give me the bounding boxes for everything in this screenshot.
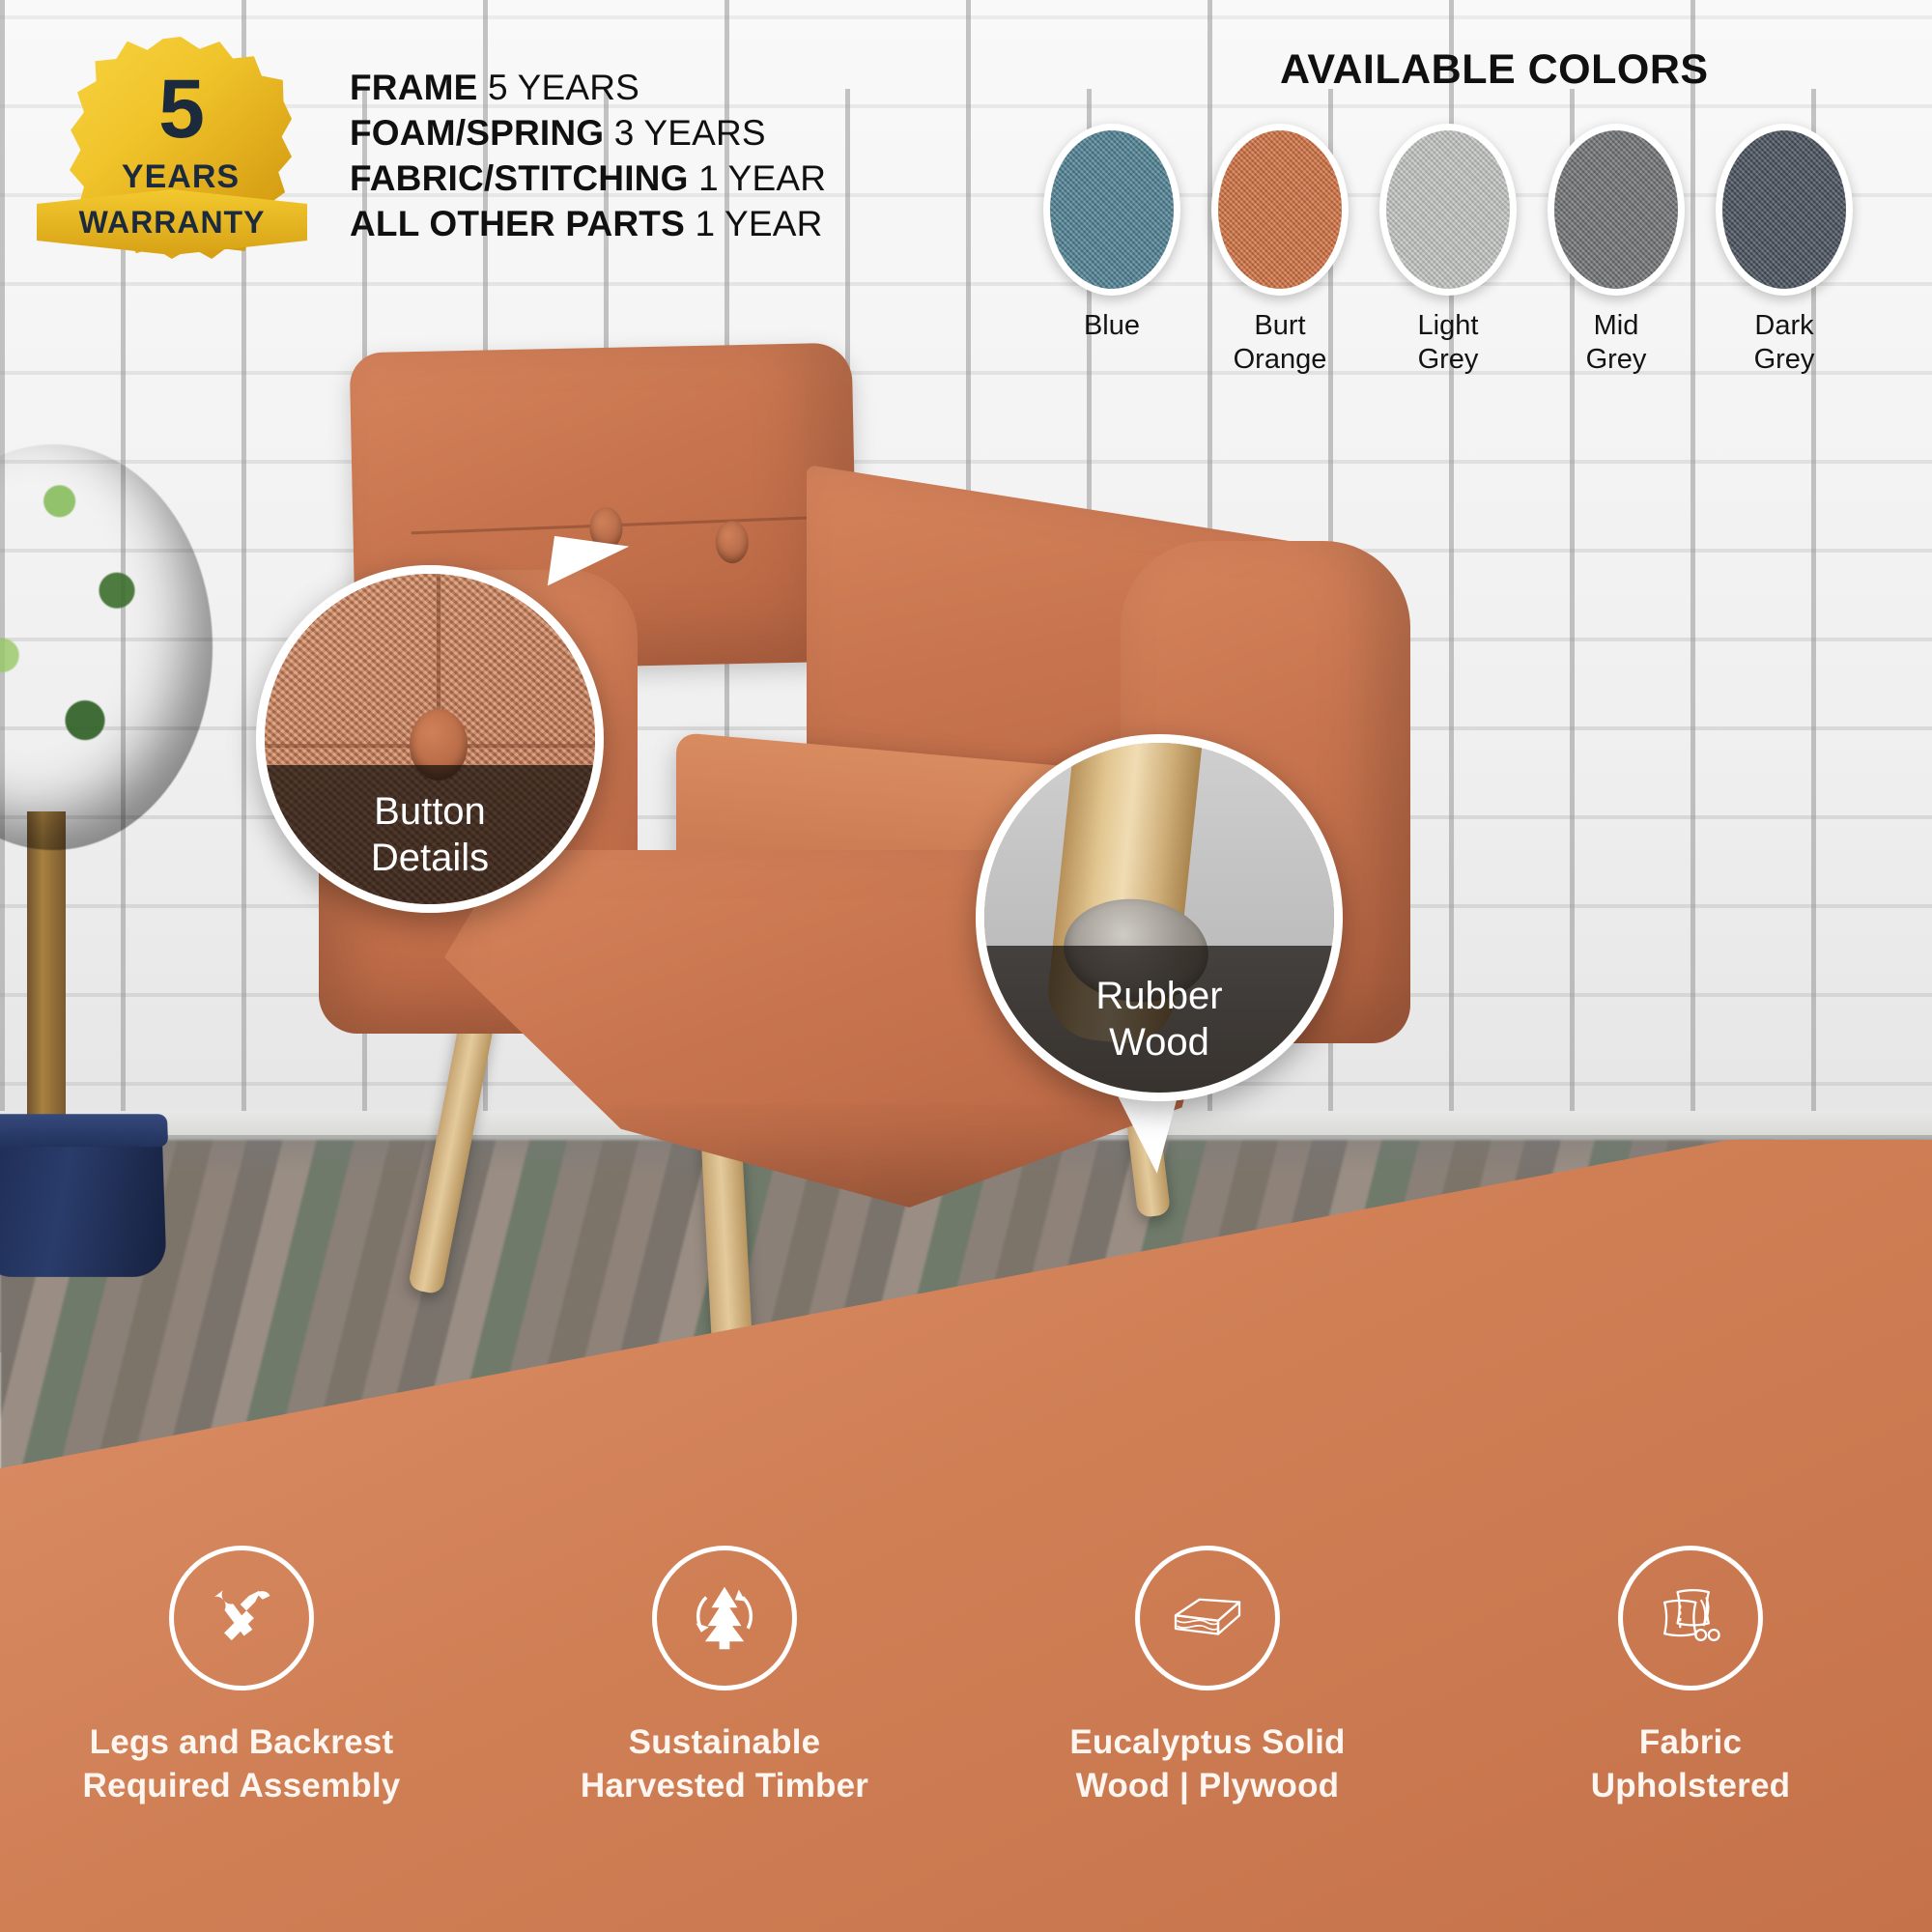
feature-label-line1: Eucalyptus Solid	[1000, 1721, 1415, 1765]
feature-sustainable-label: Sustainable Harvested Timber	[517, 1721, 932, 1808]
warranty-terms-list: FRAME 5 YEARS FOAM/SPRING 3 YEARS FABRIC…	[350, 66, 826, 247]
feature-row: Legs and Backrest Required Assembly	[0, 1546, 1932, 1808]
feature-label-line2: Wood | Plywood	[1000, 1765, 1415, 1808]
color-swatch-mid-grey-oval[interactable]	[1548, 124, 1685, 296]
feature-assembly: Legs and Backrest Required Assembly	[34, 1546, 449, 1808]
color-swatch-blue[interactable]: Blue	[1043, 124, 1180, 378]
feature-eucalyptus-label: Eucalyptus Solid Wood | Plywood	[1000, 1721, 1415, 1808]
swatch-label-line1: Blue	[1043, 309, 1180, 343]
available-colors-title: AVAILABLE COLORS	[1280, 46, 1709, 94]
feature-label-line1: Legs and Backrest	[34, 1721, 449, 1765]
callout-rubber-wood: Rubber Wood	[976, 734, 1343, 1101]
caption-line2: Details	[371, 837, 489, 879]
caption-line1: Button	[374, 790, 486, 833]
callout-button-details: Button Details	[256, 565, 604, 913]
rubber-wood-caption-text: Rubber Wood	[1095, 973, 1222, 1065]
color-swatch-light-grey-label: Light Grey	[1379, 309, 1517, 378]
feature-label-line2: Harvested Timber	[517, 1765, 932, 1808]
tools-icon	[202, 1578, 281, 1658]
infographic-canvas: 5 YEARS WARRANTY FRAME 5 YEARS FOAM/SPRI…	[0, 0, 1932, 1932]
color-swatch-burt-orange[interactable]: Burt Orange	[1211, 124, 1349, 378]
backrest-seam	[411, 514, 865, 534]
color-swatch-blue-label: Blue	[1043, 309, 1180, 343]
feature-fabric-label: Fabric Upholstered	[1483, 1721, 1898, 1808]
feature-sustainable-timber: Sustainable Harvested Timber	[517, 1546, 932, 1808]
feature-label-line1: Sustainable	[517, 1721, 932, 1765]
warranty-term-foam-spring: FOAM/SPRING	[350, 113, 604, 153]
color-swatch-dark-grey[interactable]: Dark Grey	[1716, 124, 1853, 378]
feature-fabric-upholstered: Fabric Upholstered	[1483, 1546, 1898, 1808]
pillow-scissors-icon	[1649, 1577, 1732, 1660]
warranty-value-frame: 5 YEARS	[488, 68, 639, 107]
button-details-caption: Button Details	[265, 765, 595, 904]
tree-recycle-icon	[683, 1577, 766, 1660]
color-swatch-light-grey[interactable]: Light Grey	[1379, 124, 1517, 378]
feature-eucalyptus-wood: Eucalyptus Solid Wood | Plywood	[1000, 1546, 1415, 1808]
warranty-value-fabric-stitching: 1 YEAR	[698, 158, 826, 198]
color-swatch-dark-grey-label: Dark Grey	[1716, 309, 1853, 378]
swatch-label-line2: Grey	[1548, 343, 1685, 377]
warranty-line-foam-spring: FOAM/SPRING 3 YEARS	[350, 111, 826, 156]
color-swatch-mid-grey[interactable]: Mid Grey	[1548, 124, 1685, 378]
feature-sustainable-ring	[652, 1546, 797, 1690]
swatch-label-line2: Grey	[1716, 343, 1853, 377]
warranty-value-other-parts: 1 YEAR	[695, 204, 822, 243]
swatch-label-line2: Grey	[1379, 343, 1517, 377]
warranty-line-frame: FRAME 5 YEARS	[350, 66, 826, 111]
feature-assembly-ring	[169, 1546, 314, 1690]
swatch-label-line1: Burt	[1211, 309, 1349, 343]
feature-assembly-label: Legs and Backrest Required Assembly	[34, 1721, 449, 1808]
swatch-label-line2: Orange	[1211, 343, 1349, 377]
warranty-term-other-parts: ALL OTHER PARTS	[350, 204, 685, 243]
color-swatch-burt-orange-label: Burt Orange	[1211, 309, 1349, 378]
plant-pot	[0, 1123, 167, 1277]
fabric-seam-vertical	[437, 574, 440, 719]
color-swatch-blue-oval[interactable]	[1043, 124, 1180, 296]
button-details-caption-text: Button Details	[371, 788, 489, 881]
swatch-label-line1: Mid	[1548, 309, 1685, 343]
warranty-term-frame: FRAME	[350, 68, 478, 107]
warranty-ribbon-label: WARRANTY	[79, 205, 266, 241]
color-swatch-mid-grey-label: Mid Grey	[1548, 309, 1685, 378]
color-swatch-row: Blue Burt Orange Light Grey Mid Grey	[1043, 124, 1853, 378]
feature-eucalyptus-ring	[1135, 1546, 1280, 1690]
tufting-button-right	[715, 521, 749, 564]
color-swatch-burt-orange-oval[interactable]	[1211, 124, 1349, 296]
swatch-label-line1: Light	[1379, 309, 1517, 343]
warranty-value-foam-spring: 3 YEARS	[614, 113, 766, 153]
feature-label-line2: Upholstered	[1483, 1765, 1898, 1808]
feature-label-line1: Fabric	[1483, 1721, 1898, 1765]
warranty-line-fabric-stitching: FABRIC/STITCHING 1 YEAR	[350, 156, 826, 202]
plant-trunk	[27, 811, 66, 1130]
feature-fabric-ring	[1618, 1546, 1763, 1690]
warranty-term-fabric-stitching: FABRIC/STITCHING	[350, 158, 689, 198]
chair-leg-front-left	[408, 1004, 497, 1294]
wood-plank-icon	[1165, 1576, 1250, 1661]
swatch-label-line1: Dark	[1716, 309, 1853, 343]
caption-line1: Rubber	[1095, 975, 1222, 1017]
color-swatch-dark-grey-oval[interactable]	[1716, 124, 1853, 296]
rubber-wood-caption: Rubber Wood	[984, 946, 1334, 1093]
warranty-line-other-parts: ALL OTHER PARTS 1 YEAR	[350, 202, 826, 247]
feature-label-line2: Required Assembly	[34, 1765, 449, 1808]
color-swatch-light-grey-oval[interactable]	[1379, 124, 1517, 296]
caption-line2: Wood	[1109, 1021, 1209, 1064]
badge-number: 5	[70, 68, 292, 151]
